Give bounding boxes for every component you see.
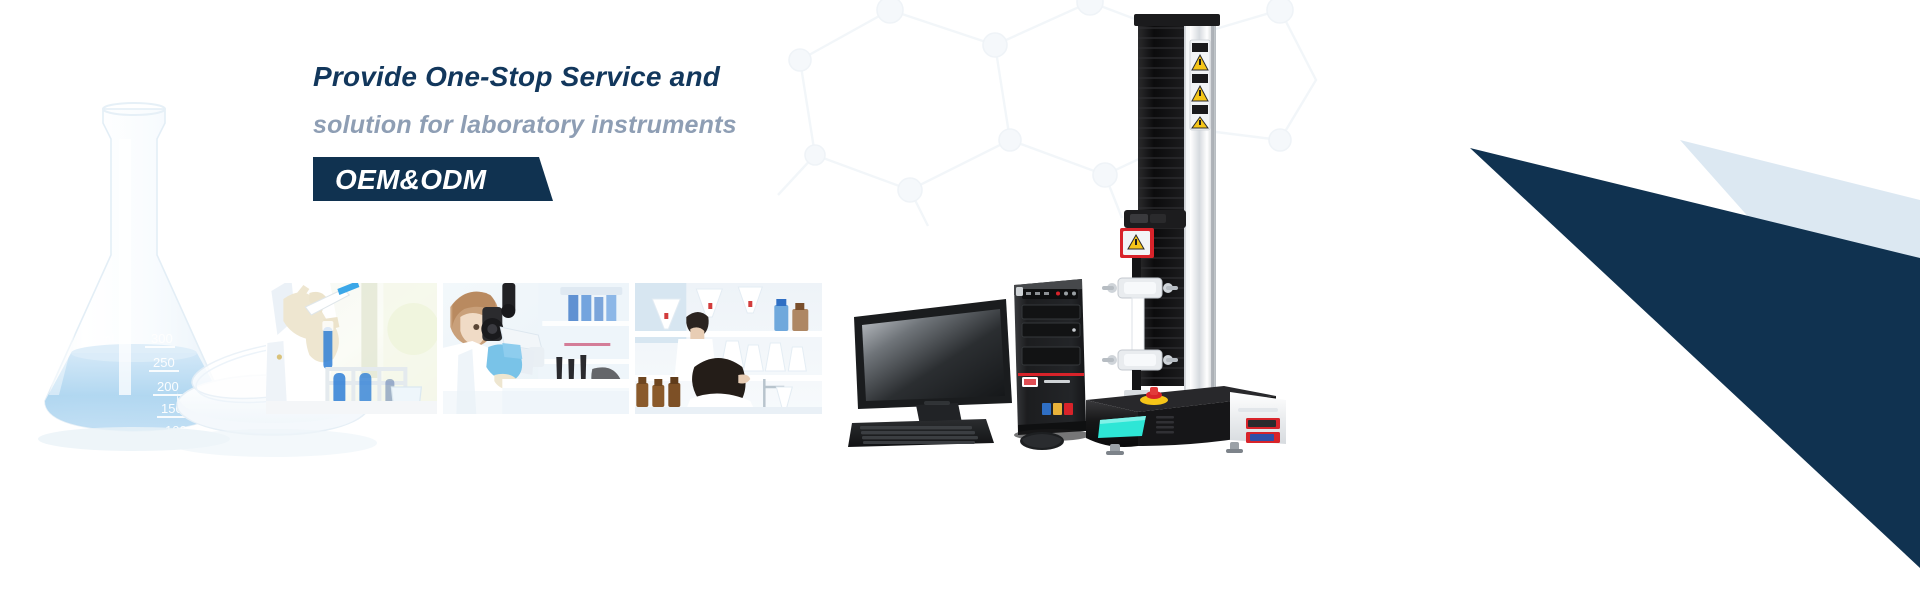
- flask-graduation-150: 150: [161, 401, 183, 416]
- headline-block: Provide One-Stop Service and solution fo…: [313, 58, 933, 201]
- photo-strip: [266, 283, 822, 414]
- hero-banner: 300 250 200 150 100 mL Provide One-Stop …: [0, 0, 1920, 597]
- oem-odm-tag: OEM&ODM: [313, 157, 553, 201]
- computer-mouse: [1020, 432, 1064, 450]
- oem-odm-tag-label: OEM&ODM: [335, 164, 486, 196]
- flask-graduation-200: 200: [157, 379, 179, 394]
- photo-lab-bench: [635, 283, 822, 414]
- crosshead-assembly: [1102, 210, 1186, 398]
- headline-line-1: Provide One-Stop Service and: [313, 58, 933, 96]
- photo-microscope: [443, 283, 630, 414]
- flask-graduation-300: 300: [151, 331, 173, 346]
- photo-pipetting: [266, 283, 437, 414]
- machine-silver-column: [1184, 14, 1216, 392]
- headline-line-2: solution for laboratory instruments: [313, 109, 933, 143]
- flask-graduation-100: 100: [165, 423, 187, 438]
- machine-base: [1086, 386, 1286, 455]
- flask-graduation-250: 250: [153, 355, 175, 370]
- keyboard: [848, 419, 994, 447]
- desktop-computer-image: [846, 275, 1096, 455]
- universal-testing-machine-image: [1080, 14, 1310, 459]
- tower-case: [1014, 279, 1090, 441]
- flask-unit-label: mL: [101, 332, 118, 346]
- monitor: [854, 299, 1012, 434]
- machine-column: [1138, 20, 1184, 386]
- arrow-dark-triangle-icon: [1470, 148, 1920, 568]
- arrow-light-triangle-icon: [1680, 140, 1920, 470]
